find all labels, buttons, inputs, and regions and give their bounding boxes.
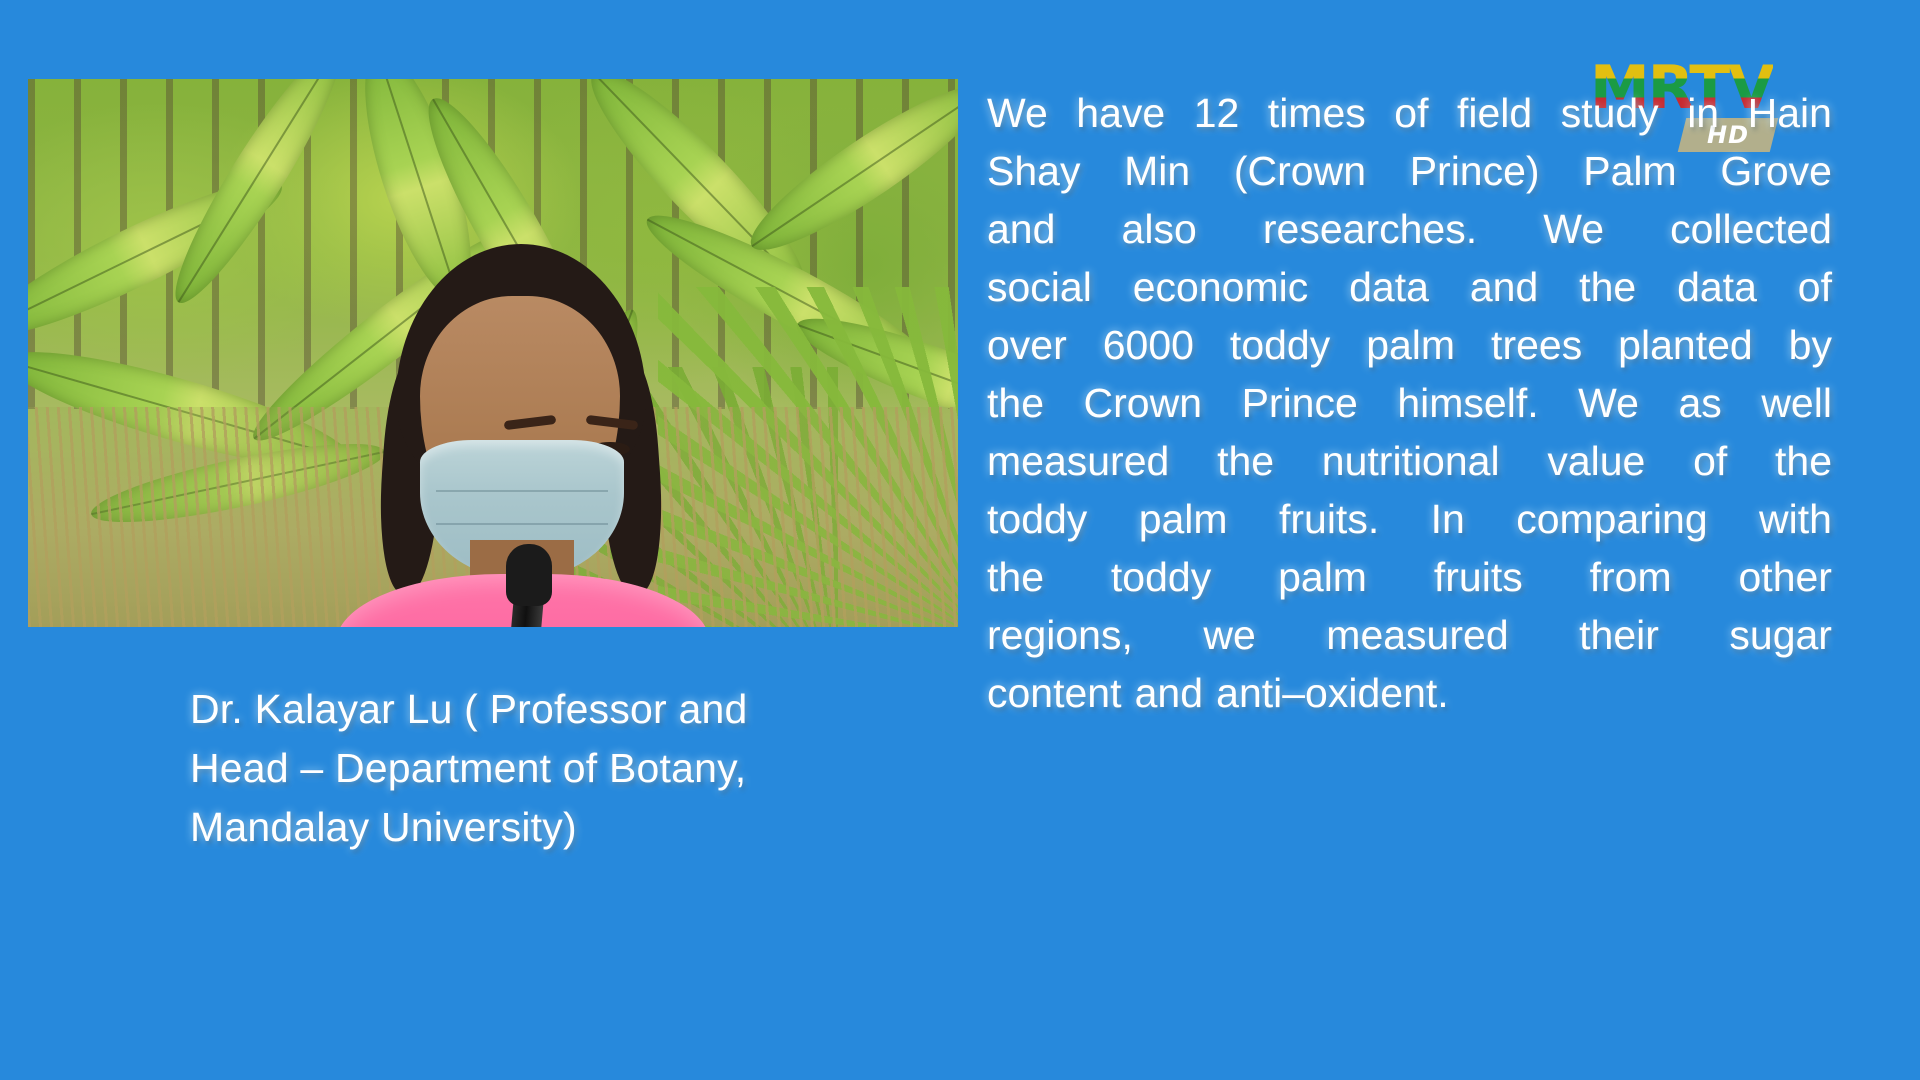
subtitle-word: nutritional [1322, 432, 1500, 490]
subtitle-word: toddy [987, 490, 1087, 548]
subtitle-word: other [1739, 548, 1832, 606]
subtitle-word: palm [1278, 548, 1367, 606]
subtitle-word: trees [1491, 316, 1582, 374]
subtitle-line: regions,wemeasuredtheirsugar [987, 606, 1832, 664]
subtitle-word: fruits. [1279, 490, 1379, 548]
caption-line: Dr. Kalayar Lu ( Professor and [190, 680, 810, 739]
subtitle-word: well [1761, 374, 1832, 432]
subtitle-line: Wehave12timesoffieldstudyinHain [987, 84, 1832, 142]
subtitle-word: times [1268, 84, 1366, 142]
subtitle-line: toddypalmfruits.Incomparingwith [987, 490, 1832, 548]
subtitle-line: thetoddypalmfruitsfromother [987, 548, 1832, 606]
speaker-caption: Dr. Kalayar Lu ( Professor and Head – De… [190, 680, 810, 857]
subtitle-word: value [1547, 432, 1645, 490]
subtitle-word: Hain [1748, 84, 1832, 142]
microphone-icon [506, 544, 552, 606]
subtitle-word: have [1076, 84, 1165, 142]
subtitle-word: in [1687, 84, 1719, 142]
subtitle-word: measured [987, 432, 1169, 490]
subtitle-line: contentandanti–oxident. [987, 664, 1832, 722]
subtitle-word: We [1578, 374, 1639, 432]
subtitle-word: content [987, 664, 1122, 722]
subtitle-word: economic [1133, 258, 1308, 316]
subtitle-word: Grove [1720, 142, 1832, 200]
subtitle-line: socialeconomicdataandthedataof [987, 258, 1832, 316]
subtitle-word: (Crown [1234, 142, 1366, 200]
subtitle-word: and [1135, 664, 1203, 722]
subtitle-word: collected [1670, 200, 1832, 258]
subtitle-word: with [1759, 490, 1832, 548]
subtitle-word: toddy [1111, 548, 1211, 606]
subtitle-word: by [1789, 316, 1832, 374]
eyebrow-left [504, 415, 557, 430]
subtitle-word: anti–oxident. [1216, 664, 1449, 722]
speech-subtitle-block: Wehave12timesoffieldstudyinHain ShayMin(… [987, 84, 1832, 722]
subtitle-line: over6000toddypalmtreesplantedby [987, 316, 1832, 374]
subtitle-word: We [1543, 200, 1604, 258]
caption-line: Head – Department of Botany, [190, 739, 810, 798]
subtitle-word: Crown [1084, 374, 1202, 432]
subtitle-word: researches. [1263, 200, 1477, 258]
video-frame [28, 79, 958, 627]
subtitle-word: fruits [1434, 548, 1523, 606]
subtitle-word: of [1394, 84, 1428, 142]
subtitle-word: of [1798, 258, 1832, 316]
subtitle-word: as [1678, 374, 1721, 432]
subtitle-word: their [1579, 606, 1659, 664]
subtitle-word: planted [1618, 316, 1753, 374]
subtitle-line: ShayMin(CrownPrince)PalmGrove [987, 142, 1832, 200]
subtitle-word: palm [1139, 490, 1228, 548]
subtitle-word: sugar [1729, 606, 1832, 664]
caption-line: Mandalay University) [190, 798, 810, 857]
subtitle-word: Prince [1242, 374, 1358, 432]
subtitle-word: field [1457, 84, 1532, 142]
subtitle-word: Prince) [1410, 142, 1540, 200]
subtitle-word: the [987, 548, 1044, 606]
subtitle-word: of [1693, 432, 1727, 490]
video-scene [28, 79, 958, 627]
subtitle-word: regions, [987, 606, 1133, 664]
subtitle-word: 6000 [1103, 316, 1194, 374]
subtitle-word: and [1470, 258, 1538, 316]
subtitle-word: from [1590, 548, 1672, 606]
subtitle-word: Palm [1583, 142, 1676, 200]
broadcast-screen: MRTV HD Dr. Kalayar Lu ( Professor and H… [0, 0, 1920, 1080]
subtitle-word: also [1122, 200, 1197, 258]
subtitle-word: comparing [1516, 490, 1707, 548]
subtitle-word: Min [1124, 142, 1190, 200]
subtitle-word: We [987, 84, 1048, 142]
subtitle-word: himself. [1397, 374, 1538, 432]
subtitle-line: measuredthenutritionalvalueofthe [987, 432, 1832, 490]
subtitle-word: the [1217, 432, 1274, 490]
subtitle-line: andalsoresearches.Wecollected [987, 200, 1832, 258]
subtitle-word: and [987, 200, 1055, 258]
interview-subject [358, 244, 688, 627]
subtitle-word: palm [1366, 316, 1455, 374]
subtitle-word: over [987, 316, 1067, 374]
subtitle-word: In [1431, 490, 1465, 548]
subtitle-word: study [1561, 84, 1659, 142]
subtitle-word: toddy [1230, 316, 1330, 374]
subtitle-word: the [987, 374, 1044, 432]
subtitle-word: Shay [987, 142, 1080, 200]
subtitle-word: we [1203, 606, 1255, 664]
subtitle-word: the [1579, 258, 1636, 316]
subtitle-word: data [1677, 258, 1757, 316]
subtitle-word: measured [1326, 606, 1508, 664]
subtitle-word: 12 [1194, 84, 1240, 142]
subtitle-word: social [987, 258, 1092, 316]
subtitle-word: data [1349, 258, 1429, 316]
subtitle-line: theCrownPrincehimself.Weaswell [987, 374, 1832, 432]
subtitle-word: the [1775, 432, 1832, 490]
